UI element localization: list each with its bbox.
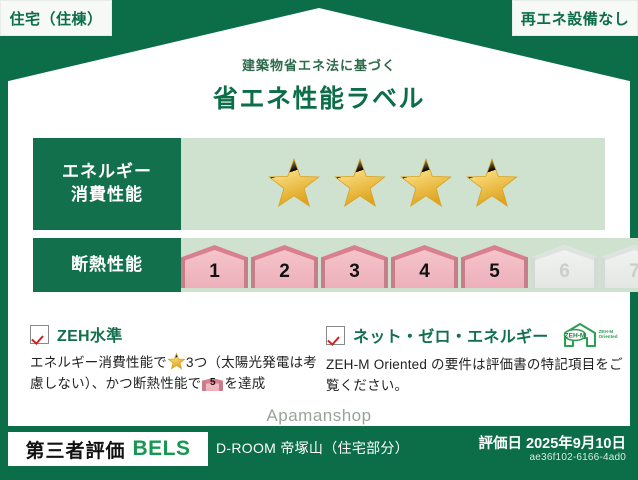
- page-title: 省エネ性能ラベル: [0, 79, 638, 115]
- criteria-zeh-body: エネルギー消費性能で3つ（太陽光発電は考慮しない）、かつ断熱性能で5を達成: [30, 353, 320, 398]
- insulation-grade-value: 4: [391, 261, 458, 283]
- bels-badge-en: BELS: [133, 437, 191, 461]
- row-insulation-value: 1234567: [181, 238, 638, 292]
- insulation-grade-value: 3: [321, 261, 388, 283]
- criteria-zeh-body-part1: エネルギー消費性能で: [30, 355, 167, 370]
- insulation-grade-7: 7: [601, 243, 638, 288]
- star-rating: [268, 158, 518, 210]
- row-insulation-label: 断熱性能: [33, 238, 181, 292]
- bels-badge: 第三者評価 BELS: [8, 432, 208, 466]
- row-energy-label-line1: エネルギー: [62, 161, 152, 184]
- row-energy-label-line2: 消費性能: [71, 184, 143, 207]
- house-grade-icon: 5: [202, 376, 223, 398]
- criteria-netzero-body: ZEH-M Oriented の要件は評価書の特記項目をご覧ください。: [326, 355, 626, 397]
- checkbox-checked-icon: [326, 326, 345, 345]
- svg-text:ZEH-M: ZEH-M: [564, 333, 585, 340]
- evaluation-id: ae36f102-6166-4ad0: [530, 452, 626, 463]
- badge-renewable-energy: 再エネ設備なし: [512, 0, 638, 36]
- insulation-grade-value: 1: [181, 261, 248, 283]
- insulation-grade-6: 6: [531, 243, 598, 288]
- row-insulation-label-line1: 断熱性能: [71, 254, 143, 277]
- insulation-grade-5: 5: [461, 243, 528, 288]
- insulation-grade-4: 4: [391, 243, 458, 288]
- row-energy-label: エネルギー 消費性能: [33, 138, 181, 230]
- insulation-grade-value: 7: [601, 261, 638, 283]
- star-icon-filled: [268, 158, 320, 210]
- evaluation-date: 評価日 2025年9月10日: [479, 432, 626, 453]
- star-icon: [168, 353, 185, 370]
- energy-label-card: 住宅（住棟） 再エネ設備なし 建築物省エネ法に基づく 省エネ性能ラベル エネルギ…: [0, 0, 638, 480]
- row-insulation-performance: 断熱性能 1234567: [33, 238, 605, 292]
- insulation-grade-3: 3: [321, 243, 388, 288]
- criteria-zeh-body-part3: を達成: [224, 376, 265, 391]
- checkbox-checked-icon: [30, 325, 49, 344]
- zeh-m-oriented-logo-icon: ZEH-MZEH-MOriented: [563, 322, 618, 348]
- insulation-grade-value: 2: [251, 261, 318, 283]
- star-icon-filled: [466, 158, 518, 210]
- star-icon-filled: [400, 158, 452, 210]
- criteria-netzero-head: ネット・ゼロ・エネルギー ZEH-MZEH-MOriented: [326, 322, 626, 348]
- badge-building-type: 住宅（住棟）: [0, 0, 112, 36]
- footer-bar: 第三者評価 BELS D-ROOM 帝塚山（住宅部分） 評価日 2025年9月1…: [0, 426, 638, 480]
- criteria-zeh-title: ZEH水準: [57, 322, 123, 346]
- watermark: Apamanshop: [0, 406, 638, 426]
- insulation-grade-1: 1: [181, 243, 248, 288]
- building-name: D-ROOM 帝塚山（住宅部分）: [216, 438, 409, 458]
- star-icon-filled: [334, 158, 386, 210]
- insulation-grade-scale: 1234567: [181, 243, 638, 288]
- criteria-zeh: ZEH水準 エネルギー消費性能で3つ（太陽光発電は考慮しない）、かつ断熱性能で5…: [30, 322, 320, 398]
- bels-badge-jp: 第三者評価: [25, 436, 125, 463]
- criteria-zeh-head: ZEH水準: [30, 322, 320, 346]
- title-block: 建築物省エネ法に基づく 省エネ性能ラベル: [0, 55, 638, 115]
- criteria-netzero-title: ネット・ゼロ・エネルギー: [353, 323, 549, 347]
- row-energy-performance: エネルギー 消費性能: [33, 138, 605, 230]
- insulation-grade-2: 2: [251, 243, 318, 288]
- insulation-grade-value: 6: [531, 261, 598, 283]
- row-energy-value: [181, 138, 605, 230]
- title-subtitle: 建築物省エネ法に基づく: [0, 55, 638, 74]
- insulation-grade-value: 5: [461, 261, 528, 283]
- criteria-net-zero-energy: ネット・ゼロ・エネルギー ZEH-MZEH-MOriented ZEH-M Or…: [326, 322, 626, 397]
